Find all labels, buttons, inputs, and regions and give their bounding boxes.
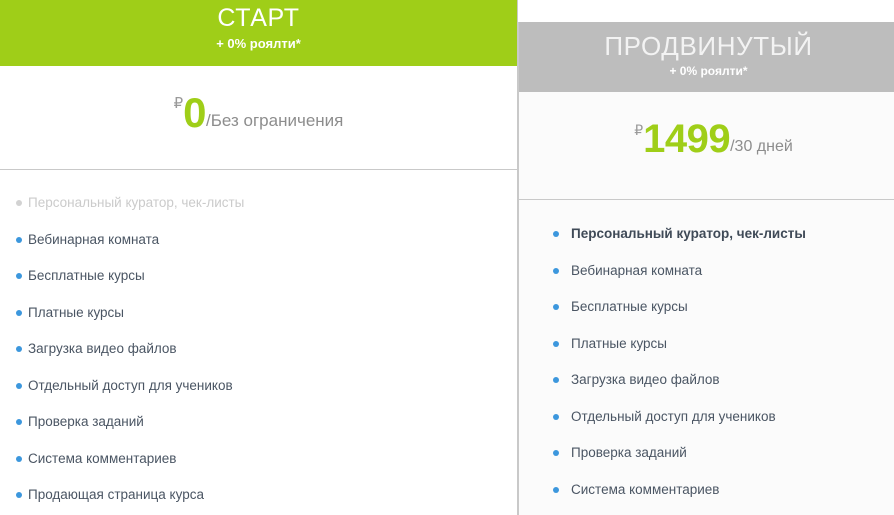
- price-period-advanced: /30 дней: [730, 138, 793, 155]
- bullet-icon: [553, 268, 559, 274]
- bullet-icon: [16, 346, 22, 352]
- feature-label: Бесплатные курсы: [28, 267, 145, 285]
- plan-header-advanced: ПРОДВИНУТЫЙ + 0% роялти*: [519, 22, 894, 92]
- feature-item: Проверка заданий: [519, 444, 894, 481]
- price-amount-advanced: 1499: [643, 117, 730, 161]
- feature-label: Платные курсы: [571, 335, 667, 353]
- feature-label: Продающая страница курса: [28, 486, 204, 504]
- feature-item: Продающая страница курса: [0, 486, 517, 515]
- feature-item: Бесплатные курсы: [519, 298, 894, 335]
- feature-label: Платные курсы: [28, 304, 124, 322]
- feature-item: Бесплатные курсы: [0, 267, 517, 304]
- feature-item: Система комментариев: [519, 481, 894, 515]
- feature-item: Отдельный доступ для учеников: [519, 408, 894, 445]
- feature-item: Отдельный доступ для учеников: [0, 377, 517, 414]
- bullet-icon: [16, 419, 22, 425]
- feature-item: Платные курсы: [0, 304, 517, 341]
- feature-label: Отдельный доступ для учеников: [28, 377, 233, 395]
- feature-label: Бесплатные курсы: [571, 298, 688, 316]
- feature-list-advanced: Персональный куратор, чек-листы Вебинарн…: [519, 200, 894, 515]
- feature-item: Система комментариев: [0, 450, 517, 487]
- feature-label: Вебинарная комната: [28, 231, 159, 249]
- plan-title-advanced: ПРОДВИНУТЫЙ: [533, 30, 884, 62]
- bullet-icon: [16, 237, 22, 243]
- feature-item: Персональный куратор, чек-листы: [0, 194, 517, 231]
- bullet-icon: [553, 304, 559, 310]
- feature-label: Загрузка видео файлов: [28, 340, 177, 358]
- feature-label: Персональный куратор, чек-листы: [571, 225, 806, 243]
- price-period-start: /Без ограничения: [206, 111, 343, 130]
- bullet-icon: [16, 492, 22, 498]
- feature-item: Загрузка видео файлов: [519, 371, 894, 408]
- plan-price-zone-advanced: ₽1499/30 дней: [519, 92, 894, 200]
- feature-label: Загрузка видео файлов: [571, 371, 720, 389]
- pricing-card-start[interactable]: СТАРТ + 0% роялти* ₽0/Без ограничения Пе…: [0, 0, 518, 515]
- currency-symbol-advanced: ₽: [634, 122, 643, 138]
- plan-price-zone-start: ₽0/Без ограничения: [0, 66, 517, 170]
- bullet-icon: [16, 200, 22, 206]
- plan-title-start: СТАРТ: [0, 2, 517, 34]
- feature-item: Загрузка видео файлов: [0, 340, 517, 377]
- bullet-icon: [553, 231, 559, 237]
- feature-label: Проверка заданий: [571, 444, 687, 462]
- plan-price-advanced: ₽1499/30 дней: [519, 119, 894, 159]
- feature-label: Система комментариев: [28, 450, 176, 468]
- feature-item: Персональный куратор, чек-листы: [519, 225, 894, 262]
- feature-label: Система комментариев: [571, 481, 719, 499]
- plan-header-start: СТАРТ + 0% роялти*: [0, 0, 517, 66]
- currency-symbol-start: ₽: [174, 95, 184, 112]
- bullet-icon: [16, 456, 22, 462]
- bullet-icon: [553, 341, 559, 347]
- feature-item: Вебинарная комната: [519, 262, 894, 299]
- plan-royalty-start: + 0% роялти*: [0, 35, 517, 53]
- feature-item: Платные курсы: [519, 335, 894, 372]
- feature-item: Вебинарная комната: [0, 231, 517, 268]
- plan-price-start: ₽0/Без ограничения: [0, 92, 517, 134]
- price-amount-start: 0: [183, 89, 206, 136]
- bullet-icon: [16, 383, 22, 389]
- feature-label: Вебинарная комната: [571, 262, 702, 280]
- pricing-table: СТАРТ + 0% роялти* ₽0/Без ограничения Пе…: [0, 0, 894, 515]
- pricing-card-advanced[interactable]: ПРОДВИНУТЫЙ + 0% роялти* ₽1499/30 дней П…: [518, 22, 894, 515]
- feature-list-start: Персональный куратор, чек-листы Вебинарн…: [0, 170, 517, 515]
- feature-label: Персональный куратор, чек-листы: [28, 194, 244, 212]
- bullet-icon: [16, 310, 22, 316]
- feature-label: Отдельный доступ для учеников: [571, 408, 776, 426]
- bullet-icon: [16, 273, 22, 279]
- feature-label: Проверка заданий: [28, 413, 144, 431]
- plan-royalty-advanced: + 0% роялти*: [533, 63, 884, 80]
- bullet-icon: [553, 414, 559, 420]
- bullet-icon: [553, 487, 559, 493]
- feature-item: Проверка заданий: [0, 413, 517, 450]
- bullet-icon: [553, 377, 559, 383]
- bullet-icon: [553, 450, 559, 456]
